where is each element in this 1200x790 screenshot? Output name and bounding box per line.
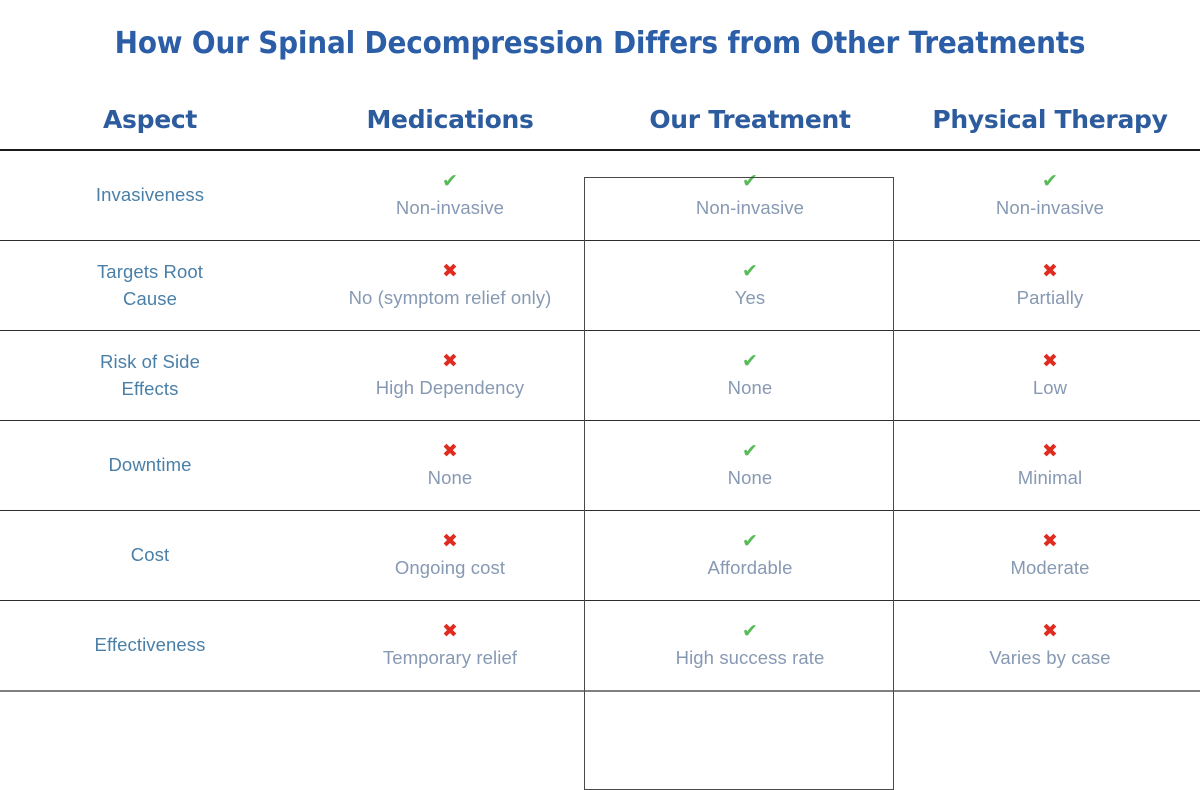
- cell-physical-therapy: ✖Low: [900, 331, 1200, 421]
- table-row: Invasiveness✔Non-invasive✔Non-invasive✔N…: [0, 150, 1200, 241]
- cell-value-text: Temporary relief: [383, 647, 517, 668]
- cell-our-treatment: ✔Yes: [600, 241, 900, 331]
- cell-value-text: No (symptom relief only): [349, 287, 552, 308]
- cross-icon: ✖: [442, 532, 458, 551]
- cell-physical-therapy: ✖Varies by case: [900, 601, 1200, 692]
- aspect-label: Risk of SideEffects: [0, 349, 300, 403]
- table-row: Targets RootCause✖No (symptom relief onl…: [0, 241, 1200, 331]
- cell-value-text: Non-invasive: [396, 197, 504, 218]
- cross-icon: ✖: [1042, 532, 1058, 551]
- cell-our-treatment: ✔None: [600, 331, 900, 421]
- column-header-physical-therapy: Physical Therapy: [900, 89, 1200, 150]
- cell-content: ✖None: [300, 442, 600, 488]
- cell-content: ✔High success rate: [600, 622, 900, 668]
- cell-value-text: High Dependency: [376, 377, 525, 398]
- cell-physical-therapy: ✖Moderate: [900, 511, 1200, 601]
- table-row: Risk of SideEffects✖High Dependency✔None…: [0, 331, 1200, 421]
- cell-value-text: Minimal: [1018, 467, 1082, 488]
- cross-icon: ✖: [1042, 622, 1058, 641]
- cell-physical-therapy: ✖Minimal: [900, 421, 1200, 511]
- cell-aspect: Effectiveness: [0, 601, 300, 692]
- column-header-our-treatment: Our Treatment: [600, 89, 900, 150]
- cell-value-text: Moderate: [1011, 557, 1090, 578]
- aspect-label: Downtime: [0, 452, 300, 479]
- cell-medications: ✖Ongoing cost: [300, 511, 600, 601]
- header-row: Aspect Medications Our Treatment Physica…: [0, 89, 1200, 150]
- cell-content: ✔Non-invasive: [900, 172, 1200, 218]
- cell-content: ✖High Dependency: [300, 352, 600, 398]
- check-icon: ✔: [442, 172, 458, 191]
- check-icon: ✔: [1042, 172, 1058, 191]
- cell-content: ✔None: [600, 442, 900, 488]
- comparison-table: Aspect Medications Our Treatment Physica…: [0, 89, 1200, 692]
- table-header: Aspect Medications Our Treatment Physica…: [0, 89, 1200, 150]
- page-title: How Our Spinal Decompression Differs fro…: [42, 20, 1158, 59]
- cell-value-text: Low: [1033, 377, 1067, 398]
- cell-aspect: Invasiveness: [0, 150, 300, 241]
- check-icon: ✔: [742, 172, 758, 191]
- cell-value-text: None: [728, 377, 773, 398]
- cell-value-text: High success rate: [676, 647, 825, 668]
- cell-physical-therapy: ✔Non-invasive: [900, 150, 1200, 241]
- cell-aspect: Cost: [0, 511, 300, 601]
- aspect-label: Effectiveness: [0, 632, 300, 659]
- cross-icon: ✖: [442, 622, 458, 641]
- cell-value-text: Ongoing cost: [395, 557, 505, 578]
- cell-medications: ✖Temporary relief: [300, 601, 600, 692]
- cell-content: ✖Low: [900, 352, 1200, 398]
- cell-content: ✔Affordable: [600, 532, 900, 578]
- cell-medications: ✖No (symptom relief only): [300, 241, 600, 331]
- cell-content: ✖Partially: [900, 262, 1200, 308]
- cell-value-text: Partially: [1017, 287, 1084, 308]
- cell-content: ✔Yes: [600, 262, 900, 308]
- cell-value-text: Non-invasive: [696, 197, 804, 218]
- cell-our-treatment: ✔High success rate: [600, 601, 900, 692]
- table-row: Cost✖Ongoing cost✔Affordable✖Moderate: [0, 511, 1200, 601]
- cell-aspect: Downtime: [0, 421, 300, 511]
- table-row: Downtime✖None✔None✖Minimal: [0, 421, 1200, 511]
- cross-icon: ✖: [1042, 262, 1058, 281]
- cell-content: ✔Non-invasive: [300, 172, 600, 218]
- check-icon: ✔: [742, 262, 758, 281]
- cell-content: ✖Minimal: [900, 442, 1200, 488]
- check-icon: ✔: [742, 442, 758, 461]
- cell-content: ✖Varies by case: [900, 622, 1200, 668]
- aspect-label: Cost: [0, 542, 300, 569]
- table-row: Effectiveness✖Temporary relief✔High succ…: [0, 601, 1200, 692]
- cross-icon: ✖: [1042, 442, 1058, 461]
- comparison-table-wrap: Aspect Medications Our Treatment Physica…: [0, 89, 1200, 692]
- column-header-medications: Medications: [300, 89, 600, 150]
- cell-value-text: Yes: [735, 287, 765, 308]
- cross-icon: ✖: [442, 262, 458, 281]
- cell-our-treatment: ✔None: [600, 421, 900, 511]
- cell-medications: ✖None: [300, 421, 600, 511]
- cell-content: ✖No (symptom relief only): [300, 262, 600, 308]
- column-header-aspect: Aspect: [0, 89, 300, 150]
- cell-our-treatment: ✔Affordable: [600, 511, 900, 601]
- cell-content: ✔None: [600, 352, 900, 398]
- cell-value-text: Varies by case: [989, 647, 1110, 668]
- cross-icon: ✖: [1042, 352, 1058, 371]
- cell-content: ✔Non-invasive: [600, 172, 900, 218]
- check-icon: ✔: [742, 352, 758, 371]
- aspect-label: Invasiveness: [0, 182, 300, 209]
- cell-our-treatment: ✔Non-invasive: [600, 150, 900, 241]
- cell-aspect: Risk of SideEffects: [0, 331, 300, 421]
- check-icon: ✔: [742, 622, 758, 641]
- cell-value-text: None: [728, 467, 773, 488]
- cell-content: ✖Moderate: [900, 532, 1200, 578]
- check-icon: ✔: [742, 532, 758, 551]
- cell-aspect: Targets RootCause: [0, 241, 300, 331]
- cross-icon: ✖: [442, 442, 458, 461]
- cell-value-text: Non-invasive: [996, 197, 1104, 218]
- cross-icon: ✖: [442, 352, 458, 371]
- cell-medications: ✖High Dependency: [300, 331, 600, 421]
- cell-value-text: Affordable: [708, 557, 793, 578]
- aspect-label: Targets RootCause: [0, 259, 300, 313]
- cell-content: ✖Temporary relief: [300, 622, 600, 668]
- cell-value-text: None: [428, 467, 473, 488]
- table-body: Invasiveness✔Non-invasive✔Non-invasive✔N…: [0, 150, 1200, 691]
- cell-physical-therapy: ✖Partially: [900, 241, 1200, 331]
- cell-medications: ✔Non-invasive: [300, 150, 600, 241]
- cell-content: ✖Ongoing cost: [300, 532, 600, 578]
